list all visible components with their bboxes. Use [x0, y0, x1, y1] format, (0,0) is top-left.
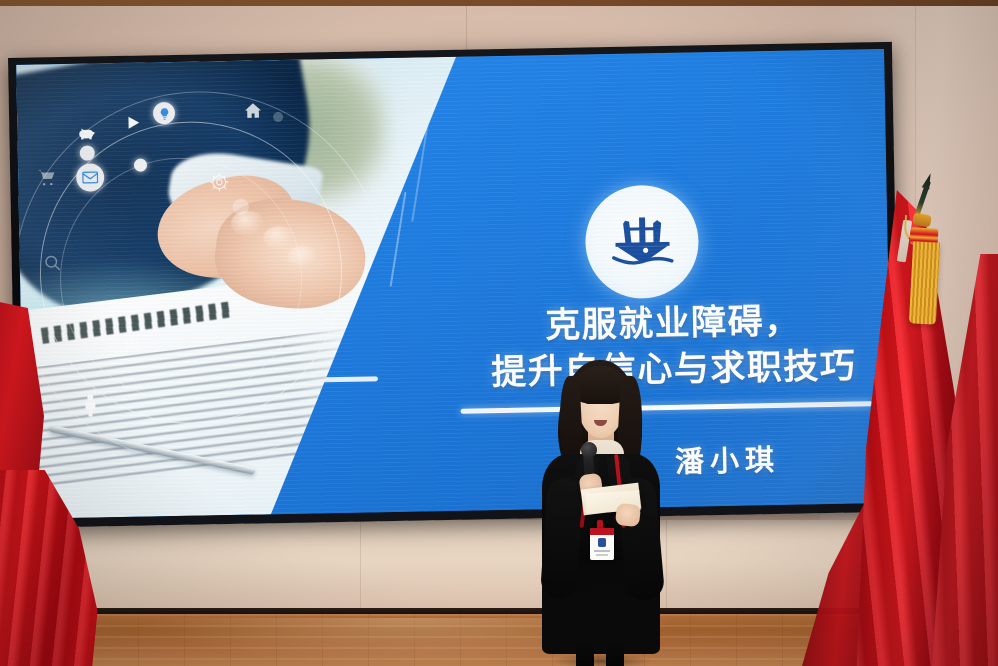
- cart-icon: [36, 168, 58, 186]
- led-screen[interactable]: 克服就业障碍， 提升自信心与求职技巧 讲师潘小琪: [8, 42, 900, 528]
- leg-left: [576, 640, 594, 666]
- presenter-shadow: [552, 654, 652, 666]
- microphone-head: [581, 442, 597, 458]
- presenter: [524, 358, 676, 666]
- speaker-name: 潘小琪: [675, 445, 781, 479]
- wall-panel-seam: [360, 520, 361, 612]
- badge-text-line: [594, 550, 610, 552]
- badge-text-line: [596, 554, 608, 556]
- person-icon: [80, 393, 100, 417]
- hand-holding-notes: [615, 503, 641, 527]
- screen-display: 克服就业障碍， 提升自信心与求职技巧 讲师潘小琪: [16, 49, 892, 519]
- search-icon: [42, 252, 64, 274]
- badge-emblem: [598, 538, 606, 547]
- gold-tassel-ornament: [906, 180, 952, 332]
- badge-header: [590, 528, 614, 535]
- id-badge: [590, 528, 614, 560]
- chart-icon: [121, 331, 145, 351]
- presentation-scene: 克服就业障碍， 提升自信心与求职技巧 讲师潘小琪: [0, 0, 998, 666]
- gear-icon: [208, 171, 230, 193]
- play-triangle-icon: [125, 115, 141, 131]
- tassel-fringe: [909, 241, 940, 324]
- logo-mark: [604, 204, 679, 279]
- piggy-bank-icon: [75, 125, 97, 143]
- home-icon: [243, 100, 263, 120]
- leg-right: [606, 640, 624, 666]
- slant-dash: [322, 376, 378, 382]
- slide-title-line1: 克服就业障碍，: [453, 297, 893, 351]
